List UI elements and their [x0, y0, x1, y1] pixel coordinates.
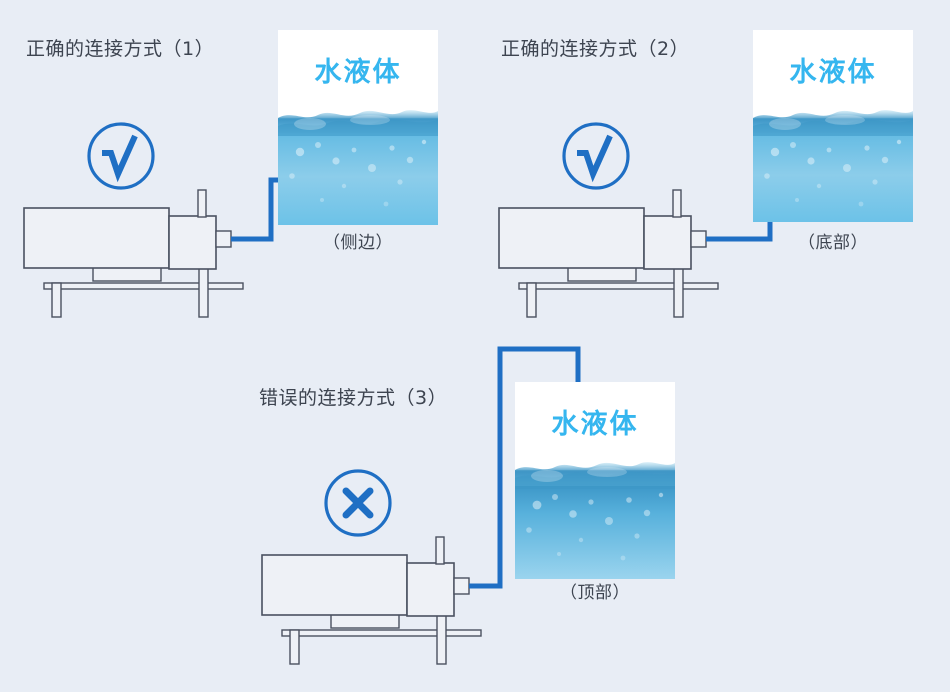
- panel-1-caption: （侧边）: [278, 228, 438, 253]
- panel-1-title: 正确的连接方式（1）: [26, 34, 214, 61]
- pipe-panel-3: [469, 349, 578, 586]
- panel-3-title: 错误的连接方式（3）: [259, 383, 447, 410]
- panel-3-caption: （顶部）: [515, 578, 675, 603]
- panel-2-tank-label: 水液体: [753, 50, 913, 89]
- cross-circle-icon: [322, 467, 394, 539]
- diagram-artwork: [0, 0, 950, 692]
- machine-panel-2: [499, 190, 718, 317]
- machine-panel-3: [262, 537, 481, 664]
- check-circle-icon: [560, 120, 632, 192]
- machine-panel-1: [24, 190, 243, 317]
- check-circle-icon: [85, 120, 157, 192]
- panel-3-tank-label: 水液体: [515, 402, 675, 441]
- panel-2-title: 正确的连接方式（2）: [501, 34, 689, 61]
- panel-1-tank-label: 水液体: [278, 50, 438, 89]
- diagram-canvas: 正确的连接方式（1） 水液体 （侧边） 正确的连接方式（2） 水液体 （底部） …: [0, 0, 950, 692]
- panel-2-caption: （底部）: [753, 228, 913, 253]
